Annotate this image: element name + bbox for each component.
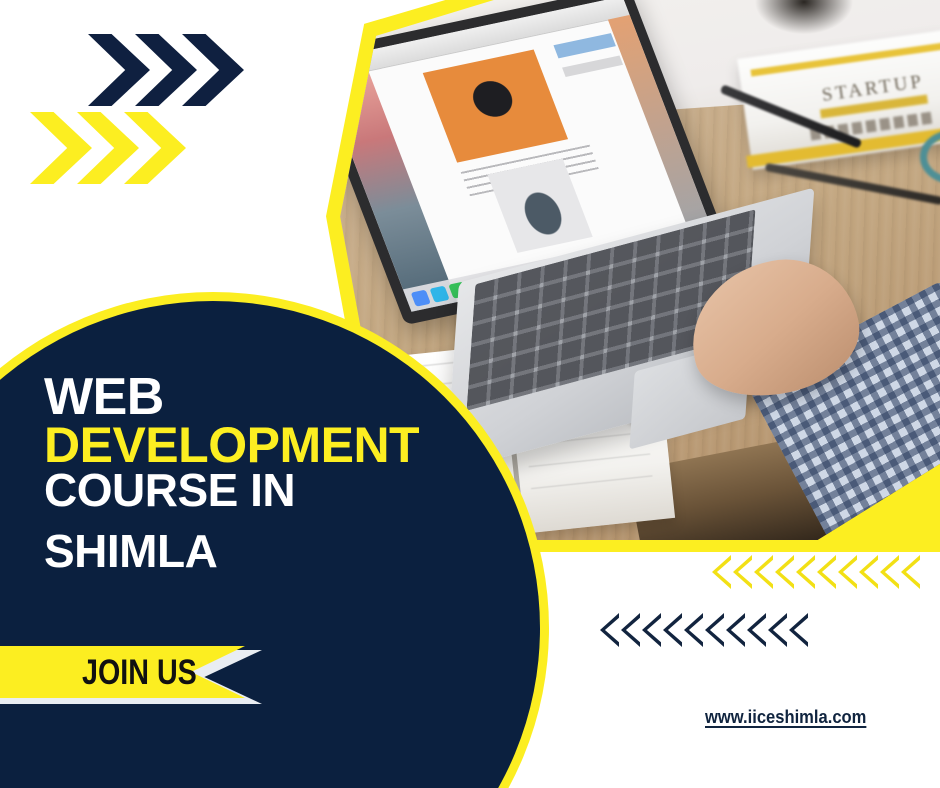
chevron-left-icon: [817, 555, 836, 589]
chevron-left-icon: [789, 613, 808, 647]
chevron-left-icon: [712, 555, 731, 589]
headline-line-3: COURSE IN: [44, 469, 514, 512]
headline-line-2: DEVELOPMENT: [44, 422, 514, 469]
chevron-left-icon: [747, 613, 766, 647]
chevron-left-icon: [859, 555, 878, 589]
page-title: WEB DEVELOPMENT COURSE IN SHIMLA: [44, 373, 514, 573]
website-url-link[interactable]: www.iiceshimla.com: [705, 707, 866, 728]
screen-product-image: [423, 49, 568, 162]
chevron-left-icon: [901, 555, 920, 589]
chevron-left-icon: [600, 613, 619, 647]
chevron-right-icon: [30, 112, 92, 184]
chevron-left-icon: [768, 613, 787, 647]
chevron-left-icon: [705, 613, 724, 647]
chevron-right-icon: [88, 34, 150, 106]
chevron-left-icon: [642, 613, 661, 647]
join-us-label[interactable]: JOIN US: [82, 653, 197, 693]
headline-line-1: WEB: [44, 373, 514, 422]
screen-secondary-button: [562, 55, 623, 77]
chevron-left-icon: [880, 555, 899, 589]
screen-primary-button: [553, 33, 615, 58]
dock-icon-safari: [429, 285, 449, 302]
dock-icon-finder: [410, 289, 430, 306]
chevron-left-icon: [663, 613, 682, 647]
chevron-left-icon: [621, 613, 640, 647]
chevron-left-icon: [796, 555, 815, 589]
chevron-left-icon: [684, 613, 703, 647]
headline-line-4: SHIMLA: [44, 530, 514, 573]
chevron-left-icon: [754, 555, 773, 589]
poster-canvas: STARTUP: [0, 0, 940, 788]
chevron-left-icon: [733, 555, 752, 589]
chevron-left-icon: [838, 555, 857, 589]
chevron-left-icon: [775, 555, 794, 589]
chevron-left-icon: [726, 613, 745, 647]
